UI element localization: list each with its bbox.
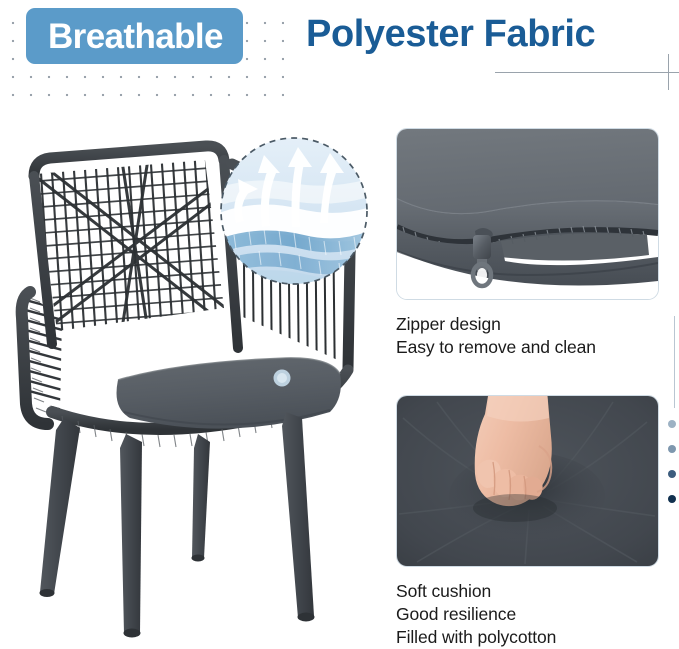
feature-cushion: Soft cushion Good resilience Filled with… xyxy=(396,395,661,649)
hand-fist-icon xyxy=(475,396,552,506)
decoration-dot-3 xyxy=(668,470,676,478)
airflow-diagram-icon xyxy=(214,131,374,291)
breathable-fabric-inset xyxy=(214,131,374,291)
header-banner: Breathable Polyester Fabric xyxy=(0,0,679,112)
breathable-badge-label: Breathable xyxy=(48,19,223,54)
decoration-vertical-line xyxy=(674,316,675,408)
decoration-dot-4 xyxy=(668,495,676,503)
zipper-photo-frame xyxy=(396,128,659,300)
chair-leg-rear-right xyxy=(192,434,210,558)
features-column: Zipper design Easy to remove and clean xyxy=(396,120,679,639)
chair-leg-rear-left xyxy=(40,418,80,594)
cushion-caption-line-3: Filled with polycotton xyxy=(396,626,661,649)
chair-seat-cushion xyxy=(117,358,341,429)
page-title: Polyester Fabric xyxy=(306,10,595,59)
header-tick-mark xyxy=(668,54,669,90)
cushion-photo-frame xyxy=(396,395,659,567)
decoration-dot-1 xyxy=(668,420,676,428)
breathable-badge: Breathable xyxy=(26,8,243,64)
zipper-closeup-photo xyxy=(397,129,658,299)
cushion-caption-line-2: Good resilience xyxy=(396,603,661,626)
decoration-dots xyxy=(668,420,679,520)
chair-legs xyxy=(40,412,315,638)
feature-zipper: Zipper design Easy to remove and clean xyxy=(396,128,661,359)
chair-leg-front-left xyxy=(120,434,142,634)
zipper-caption: Zipper design Easy to remove and clean xyxy=(396,313,661,359)
hand-pressing-cushion-photo xyxy=(397,396,658,566)
zipper-caption-line-2: Easy to remove and clean xyxy=(396,336,661,359)
chair-leg-front-right xyxy=(282,412,314,618)
zipper-caption-line-1: Zipper design xyxy=(396,313,661,336)
decoration-dot-2 xyxy=(668,445,676,453)
chair-product-photo xyxy=(0,112,392,639)
header-underline xyxy=(495,72,679,73)
cushion-caption-line-1: Soft cushion xyxy=(396,580,661,603)
